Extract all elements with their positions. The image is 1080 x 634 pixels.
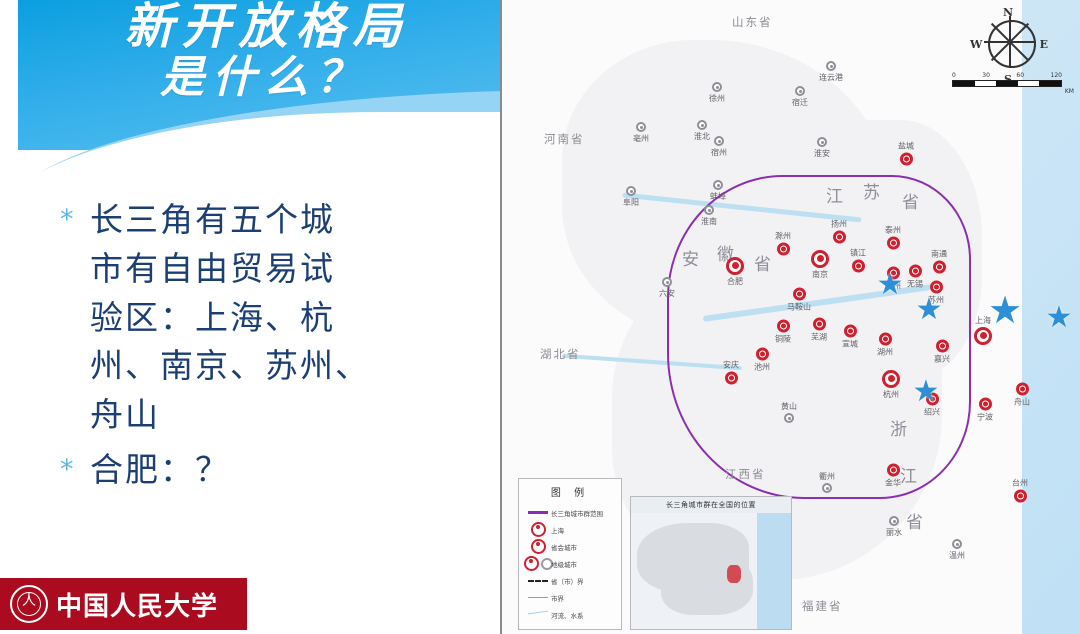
city-label: 盐城 — [898, 141, 914, 152]
presentation-slide: 新开放格局 是什么？ * 长三角有五个城 市有自由贸易试 验区：上海、杭 州、南… — [0, 0, 1080, 634]
bullet-text: 合肥：？ — [90, 446, 230, 495]
city-marker: 合肥 — [726, 257, 744, 287]
city-dot-icon — [933, 261, 946, 274]
scale-segment — [953, 81, 975, 86]
city-dot-icon — [712, 82, 722, 92]
city-label: 金华 — [885, 478, 901, 489]
city-dot-icon — [697, 120, 707, 130]
province-label: 福建省 — [802, 598, 843, 614]
city-dot-icon — [952, 539, 962, 549]
city-dot-icon — [817, 137, 827, 147]
city-dot-icon — [852, 260, 865, 273]
ftz-star-icon: ★ — [877, 270, 904, 300]
city-dot-icon — [713, 180, 723, 190]
city-label: 蚌埠 — [710, 191, 726, 202]
city-pair-icon — [525, 556, 551, 571]
city-label: 杭州 — [883, 389, 899, 400]
city-dot-icon — [909, 265, 922, 278]
city-marker: 滁州 — [775, 231, 791, 256]
city-dot-icon — [793, 288, 806, 301]
legend-label: 长三角城市群范围 — [551, 508, 603, 518]
city-label: 徐州 — [709, 93, 725, 104]
city-dot-icon — [887, 237, 900, 250]
legend-label: 市界 — [551, 593, 564, 603]
scale-tick: 120 — [1051, 72, 1062, 79]
map-scalebar: 0 30 60 120 KM — [952, 72, 1062, 87]
yrd-highlight — [727, 565, 741, 583]
title-line-1: 新开放格局 — [124, 2, 409, 52]
dashed-line-icon — [525, 580, 551, 582]
legend-item: 上海 — [525, 521, 615, 538]
province-label-large: 省 — [902, 188, 920, 213]
city-marker: 宣城 — [842, 325, 858, 350]
city-label: 合肥 — [727, 276, 743, 287]
legend-label: 省会城市 — [551, 542, 577, 552]
scale-segment — [1039, 81, 1061, 86]
scale-tick: 60 — [1016, 72, 1024, 79]
inset-map-title: 长三角城市群在全国的位置 — [631, 497, 791, 514]
compass-north-label: N — [1003, 6, 1013, 19]
city-marker: 宁波 — [977, 398, 993, 423]
scale-segment — [975, 81, 997, 86]
legend-item: 长三角城市群范围 — [525, 504, 615, 521]
compass-dial — [988, 20, 1036, 68]
scale-segment — [1018, 81, 1040, 86]
city-dot-icon — [704, 205, 714, 215]
city-dot-icon — [725, 372, 738, 385]
city-label: 无锡 — [907, 279, 923, 290]
city-label: 丽水 — [886, 527, 902, 538]
list-item: * 长三角有五个城 市有自由贸易试 验区：上海、杭 州、南京、苏州、 舟山 — [60, 196, 480, 440]
city-label: 台州 — [1012, 478, 1028, 489]
city-marker: 扬州 — [831, 219, 847, 244]
city-marker: 镇江 — [850, 248, 866, 273]
inset-map: 长三角城市群在全国的位置 — [630, 496, 792, 630]
university-logo: 人 中国人民大学 — [0, 578, 247, 630]
city-dot-icon — [1016, 383, 1029, 396]
legend-label: 省（市）界 — [551, 576, 584, 586]
city-label: 六安 — [659, 288, 675, 299]
province-label-large: 江 — [826, 182, 844, 207]
page-title: 新开放格局 是什么？ — [18, 0, 500, 150]
legend-label: 地级城市 — [551, 559, 577, 569]
purple-line-icon — [525, 511, 551, 514]
city-label: 铜陵 — [775, 334, 791, 345]
city-marker: 宿州 — [711, 136, 727, 158]
red-circle-icon — [525, 539, 551, 554]
legend-label: 上海 — [551, 525, 564, 535]
map-legend: 图 例 长三角城市群范围 上海 省会城市 地级城市 省（市） — [518, 478, 622, 630]
city-label: 亳州 — [633, 133, 649, 144]
red-circle-icon — [525, 522, 551, 537]
city-dot-icon — [726, 257, 744, 275]
city-label: 连云港 — [819, 72, 843, 83]
city-marker: 湖州 — [877, 333, 893, 358]
city-marker: 阜阳 — [623, 186, 639, 208]
province-label-large: 浙 — [890, 415, 908, 440]
legend-label: 河流、水系 — [551, 610, 584, 620]
city-dot-icon — [662, 277, 672, 287]
city-marker: 衢州 — [819, 471, 835, 493]
city-marker: 淮北 — [694, 120, 710, 142]
city-marker: 芜湖 — [811, 318, 827, 343]
bullet-marker-icon: * — [60, 446, 90, 483]
city-dot-icon — [887, 464, 900, 477]
city-label: 芜湖 — [811, 332, 827, 343]
province-label-large: 省 — [906, 508, 924, 533]
city-marker: 亳州 — [633, 122, 649, 144]
city-label: 马鞍山 — [787, 302, 811, 313]
city-marker: 南京 — [811, 250, 829, 280]
city-marker: 六安 — [659, 277, 675, 299]
university-name: 中国人民大学 — [56, 586, 218, 623]
city-label: 淮南 — [701, 216, 717, 227]
inset-map-body — [631, 513, 791, 629]
scalebar-rule — [952, 80, 1062, 87]
city-marker: 黄山 — [781, 401, 797, 423]
city-label: 黄山 — [781, 401, 797, 412]
city-dot-icon — [844, 325, 857, 338]
city-dot-icon — [795, 86, 805, 96]
scalebar-unit: KM — [1065, 88, 1074, 95]
city-label: 淮安 — [814, 148, 830, 159]
city-marker: 舟山 — [1014, 383, 1030, 408]
province-label: 山东省 — [732, 14, 773, 30]
province-label: 湖北省 — [540, 346, 581, 362]
province-label: 江西省 — [725, 466, 766, 482]
city-label: 宣城 — [842, 339, 858, 350]
bullet-list: * 长三角有五个城 市有自由贸易试 验区：上海、杭 州、南京、苏州、 舟山 * … — [60, 196, 480, 501]
city-label: 南京 — [812, 269, 828, 280]
china-outline — [661, 553, 753, 615]
city-marker: 金华 — [885, 464, 901, 489]
city-label: 淮北 — [694, 131, 710, 142]
bullet-marker-icon: * — [60, 196, 90, 233]
city-marker: 淮南 — [701, 205, 717, 227]
list-item: * 合肥：？ — [60, 446, 480, 495]
city-label: 南通 — [931, 249, 947, 260]
city-label: 宁波 — [977, 412, 993, 423]
city-dot-icon — [826, 61, 836, 71]
city-dot-icon — [777, 320, 790, 333]
title-banner: 新开放格局 是什么？ — [18, 0, 500, 176]
city-marker: 蚌埠 — [710, 180, 726, 202]
city-dot-icon — [1014, 490, 1027, 503]
city-marker: 徐州 — [709, 82, 725, 104]
city-marker: 连云港 — [819, 61, 843, 83]
city-dot-icon — [626, 186, 636, 196]
city-label: 镇江 — [850, 248, 866, 259]
city-dot-icon — [756, 348, 769, 361]
solid-line-icon — [525, 597, 551, 598]
city-dot-icon — [784, 413, 794, 423]
city-dot-icon — [777, 243, 790, 256]
city-dot-icon — [714, 136, 724, 146]
city-label: 阜阳 — [623, 197, 639, 208]
city-label: 池州 — [754, 362, 770, 373]
scalebar-ticks: 0 30 60 120 — [952, 72, 1062, 79]
city-marker: 温州 — [949, 539, 965, 561]
ftz-star-icon: ★ — [913, 377, 940, 407]
city-marker: 盐城 — [898, 141, 914, 166]
city-marker: 淮安 — [814, 137, 830, 159]
compass-west-label: W — [970, 38, 982, 51]
legend-item: 市界 — [525, 589, 615, 606]
city-label: 宿州 — [711, 147, 727, 158]
city-marker: 杭州 — [882, 370, 900, 400]
scale-segment — [996, 81, 1018, 86]
city-label: 安庆 — [723, 360, 739, 371]
city-label: 滁州 — [775, 231, 791, 242]
legend-item: 河流、水系 — [525, 606, 615, 623]
city-label: 泰州 — [885, 225, 901, 236]
city-marker: 嘉兴 — [934, 340, 950, 365]
city-marker: 马鞍山 — [787, 288, 811, 313]
city-marker: 无锡 — [907, 265, 923, 290]
province-label-large: 江 — [900, 462, 918, 487]
city-marker: 宿迁 — [792, 86, 808, 108]
map-image: 山东省 河南省 湖北省 江西省 福建省 安 徽 省 江 苏 省 浙 江 省 徐州… — [500, 0, 1080, 634]
university-seal-icon: 人 — [10, 585, 48, 623]
province-label-large: 安 — [682, 245, 700, 270]
city-dot-icon — [879, 333, 892, 346]
river-line-icon — [525, 612, 551, 617]
city-marker: 丽水 — [886, 516, 902, 538]
city-dot-icon — [979, 398, 992, 411]
seal-glyph: 人 — [12, 594, 46, 608]
scale-tick: 30 — [982, 72, 990, 79]
ftz-star-icon: ★ — [1046, 303, 1073, 333]
bullet-text: 长三角有五个城 市有自由贸易试 验区：上海、杭 州、南京、苏州、 舟山 — [90, 196, 370, 440]
legend-item: 地级城市 — [525, 555, 615, 572]
city-dot-icon — [833, 231, 846, 244]
ftz-star-icon: ★ — [988, 291, 1022, 329]
province-label: 河南省 — [544, 131, 585, 147]
city-marker: 泰州 — [885, 225, 901, 250]
city-marker: 南通 — [931, 249, 947, 274]
scale-tick: 0 — [952, 72, 956, 79]
city-label: 扬州 — [831, 219, 847, 230]
city-label: 衢州 — [819, 471, 835, 482]
city-dot-icon — [889, 516, 899, 526]
city-marker: 安庆 — [723, 360, 739, 385]
inset-sea — [757, 513, 791, 629]
province-label-large: 省 — [754, 250, 772, 275]
legend-title: 图 例 — [525, 484, 615, 499]
city-dot-icon — [822, 483, 832, 493]
city-marker: 池州 — [754, 348, 770, 373]
city-dot-icon — [811, 250, 829, 268]
city-label: 湖州 — [877, 347, 893, 358]
city-marker: 铜陵 — [775, 320, 791, 345]
ftz-star-icon: ★ — [916, 295, 943, 325]
slide-left-panel: 新开放格局 是什么？ * 长三角有五个城 市有自由贸易试 验区：上海、杭 州、南… — [0, 0, 500, 634]
province-label-large: 苏 — [863, 178, 881, 203]
city-label: 嘉兴 — [934, 354, 950, 365]
city-marker: 台州 — [1012, 478, 1028, 503]
city-dot-icon — [900, 153, 913, 166]
city-dot-icon — [882, 370, 900, 388]
city-label: 舟山 — [1014, 397, 1030, 408]
city-dot-icon — [936, 340, 949, 353]
city-label: 宿迁 — [792, 97, 808, 108]
city-label: 温州 — [949, 550, 965, 561]
city-dot-icon — [636, 122, 646, 132]
legend-item: 省（市）界 — [525, 572, 615, 589]
title-line-2: 是什么？ — [160, 56, 368, 101]
legend-item: 省会城市 — [525, 538, 615, 555]
city-dot-icon — [813, 318, 826, 331]
compass-east-label: E — [1040, 38, 1048, 51]
